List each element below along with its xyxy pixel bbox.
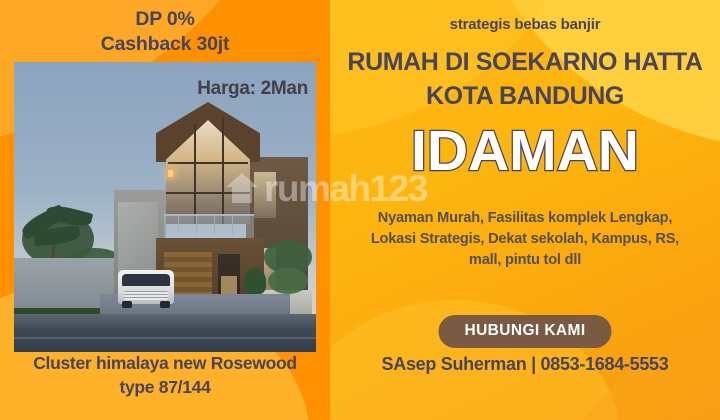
contact-us-button[interactable]: HUBUNGI KAMI <box>438 315 611 348</box>
headline-line2: KOTA BANDUNG <box>330 82 720 111</box>
promo-downpayment: DP 0% <box>0 8 330 31</box>
features-description: Nyaman Murah, Fasilitas komplek Lengkap,… <box>340 208 710 271</box>
property-photo: Harga: 2Man <box>14 62 316 352</box>
property-advertisement: DP 0% Cashback 30jt <box>0 0 720 420</box>
window-mullion-v2 <box>222 118 224 224</box>
road-marking <box>14 337 316 339</box>
window-mullion-h2 <box>166 192 250 194</box>
van-grille <box>124 291 168 300</box>
van-windshield <box>122 274 170 286</box>
van-wheel-right <box>160 301 170 308</box>
tagline: strategis bebas banjir <box>330 16 720 33</box>
van-wheel-left <box>122 301 132 308</box>
left-panel: DP 0% Cashback 30jt <box>0 0 330 420</box>
cluster-caption-line1: Cluster himalaya new Rosewood <box>0 353 330 374</box>
promo-cashback: Cashback 30jt <box>0 33 330 56</box>
balcony-rail-4 <box>232 216 233 234</box>
agent-contact: SAsep Suherman | 0853-1684-5553 <box>330 354 720 375</box>
house-right-window-upper <box>254 172 276 218</box>
price-label: Harga: 2Man <box>197 78 308 100</box>
cluster-caption-line2: type 87/144 <box>0 377 330 398</box>
main-title: IDAMAN <box>330 118 720 184</box>
exterior-lamp <box>168 170 173 177</box>
window-mullion-v1 <box>194 124 196 224</box>
topiary-right <box>268 268 308 294</box>
balcony-rail-2 <box>196 216 197 234</box>
balcony-rail-3 <box>214 216 215 234</box>
headline-line1: RUMAH DI SOEKARNO HATTA <box>330 48 720 77</box>
window-mullion-h1 <box>168 162 248 164</box>
shrub-right-1 <box>244 268 266 294</box>
features-line3: mall, pintu tol dll <box>340 250 710 271</box>
road-surface <box>14 314 316 352</box>
balcony-rail-1 <box>178 216 179 234</box>
features-line1: Nyaman Murah, Fasilitas komplek Lengkap, <box>340 208 710 229</box>
features-line2: Lokasi Strategis, Dekat sekolah, Kampus,… <box>340 229 710 250</box>
right-panel: strategis bebas banjir RUMAH DI SOEKARNO… <box>330 0 720 420</box>
